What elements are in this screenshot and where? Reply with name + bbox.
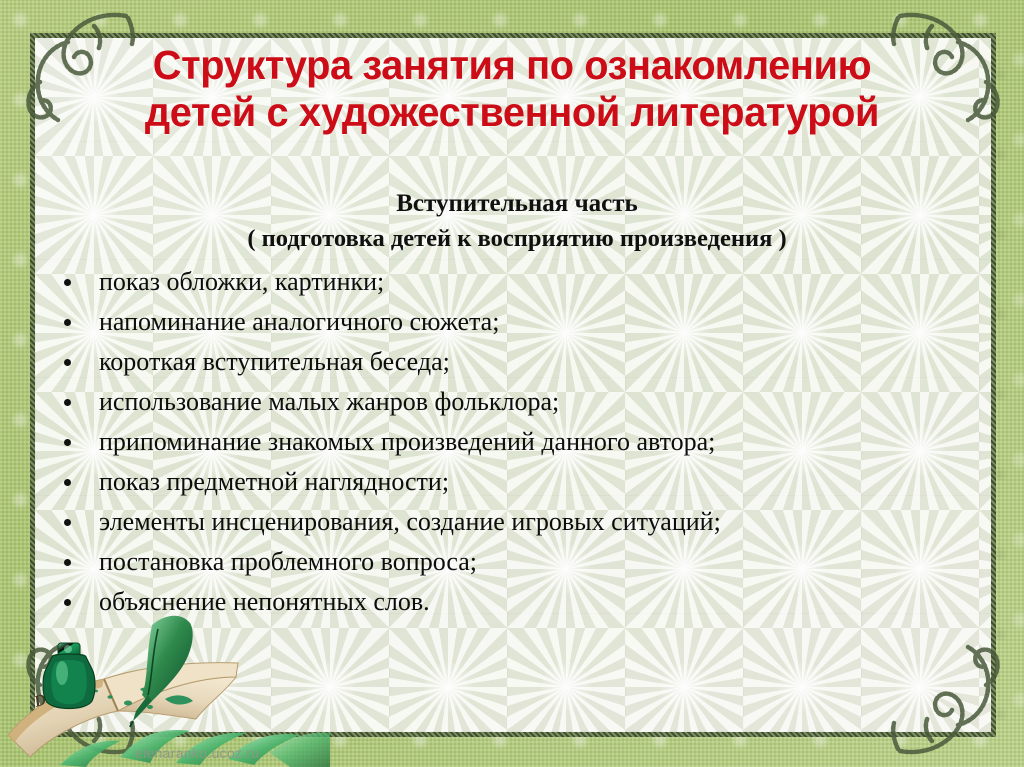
bullet-dot-icon [64, 399, 71, 406]
list-item: припоминание знакомых произведений данно… [60, 422, 984, 462]
bullet-dot-icon [64, 599, 71, 606]
list-item-label: постановка проблемного вопроса; [99, 547, 477, 576]
list-item: элементы инсценирования, создание игровы… [60, 502, 984, 542]
list-item-label: припоминание знакомых произведений данно… [99, 427, 715, 456]
bullet-dot-icon [64, 439, 71, 446]
bullet-dot-icon [64, 519, 71, 526]
list-item-label: объяснение непонятных слов. [99, 587, 430, 616]
list-item-label: показ обложки, картинки; [99, 267, 384, 296]
list-item-label: показ предметной наглядности; [99, 467, 449, 496]
slide-title: Структура занятия по ознакомлению детей … [64, 42, 960, 136]
slide-canvas: Структура занятия по ознакомлению детей … [0, 0, 1024, 767]
bullet-list: показ обложки, картинки; напоминание ана… [60, 262, 984, 622]
bullet-dot-icon [64, 319, 71, 326]
list-item-label: использование малых жанров фольклора; [99, 387, 559, 416]
bullet-dot-icon [64, 559, 71, 566]
list-item: показ предметной наглядности; [60, 462, 984, 502]
bullet-dot-icon [64, 279, 71, 286]
slide-title-line-1: Структура занятия по ознакомлению [64, 42, 960, 89]
subtitle-parenthetical: ( подготовка детей к восприятию произвед… [60, 221, 974, 256]
bullet-dot-icon [64, 359, 71, 366]
list-item: показ обложки, картинки; [60, 262, 984, 302]
list-item: объяснение непонятных слов. [60, 582, 984, 622]
list-item-label: элементы инсценирования, создание игровы… [99, 507, 721, 536]
bullet-dot-icon [64, 479, 71, 486]
list-item-label: напоминание аналогичного сюжета; [99, 307, 499, 336]
slide-subtitle: Вступительная часть ( подготовка детей к… [60, 186, 974, 256]
list-item: использование малых жанров фольклора; [60, 382, 984, 422]
list-item: постановка проблемного вопроса; [60, 542, 984, 582]
slide-title-line-2: детей с художественной литературой [64, 89, 960, 136]
list-item: короткая вступительная беседа; [60, 342, 984, 382]
watermark-text: elenaranko.ucoz.ru [135, 745, 259, 761]
list-item: напоминание аналогичного сюжета; [60, 302, 984, 342]
list-item-label: короткая вступительная беседа; [99, 347, 450, 376]
subtitle-heading: Вступительная часть [60, 186, 974, 221]
